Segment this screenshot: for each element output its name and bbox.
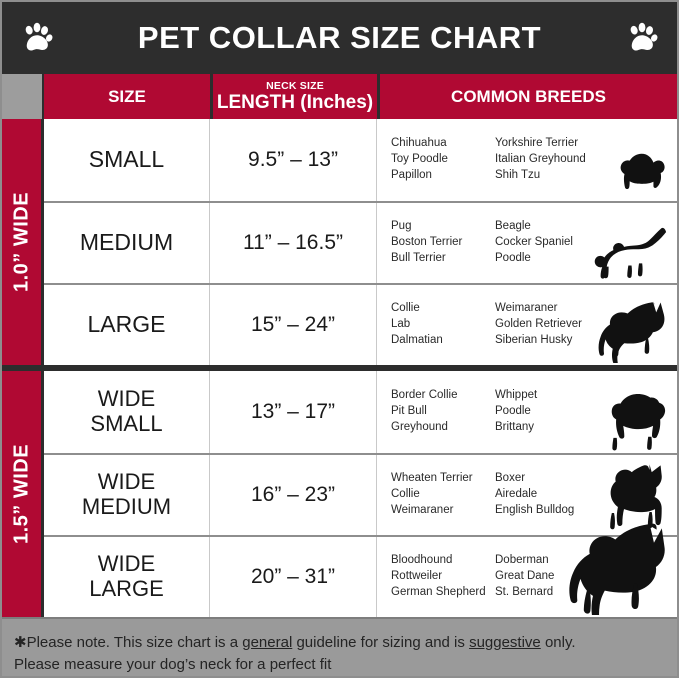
column-header-length: NECK SIZE LENGTH (Inches) <box>213 74 380 119</box>
cell-common-breeds: ChihuahuaToy PoodlePapillonYorkshire Ter… <box>377 119 677 201</box>
size-label-line1: LARGE <box>88 312 166 338</box>
column-header-size: SIZE <box>44 74 213 119</box>
breed-name: Siberian Husky <box>495 333 607 349</box>
group-rows: WIDESMALL13” – 17”Border ColliePit BullG… <box>44 371 677 617</box>
breed-name: Shih Tzu <box>495 168 607 184</box>
breed-name: Greyhound <box>391 420 495 436</box>
size-label-line2: MEDIUM <box>82 495 171 520</box>
breed-name: St. Bernard <box>495 585 607 601</box>
footer-note: ✱Please note. This size chart is a gener… <box>2 617 677 678</box>
group-rows: SMALL9.5” – 13”ChihuahuaToy PoodlePapill… <box>44 119 677 365</box>
breed-name: Collie <box>391 487 495 503</box>
cell-size: WIDELARGE <box>44 537 210 617</box>
breed-list: BoxerAiredaleEnglish Bulldog <box>495 471 607 519</box>
breed-name: Rottweiler <box>391 569 495 585</box>
cell-neck-length: 15” – 24” <box>210 285 377 365</box>
breed-name: Weimaraner <box>495 301 607 317</box>
cell-neck-length: 20” – 31” <box>210 537 377 617</box>
cell-size: WIDESMALL <box>44 371 210 453</box>
breed-list: Wheaten TerrierCollieWeimaraner <box>391 471 495 519</box>
size-label-line2: LARGE <box>89 577 164 602</box>
table-row: WIDESMALL13” – 17”Border ColliePit BullG… <box>44 371 677 453</box>
footer-text-c: only. <box>541 634 576 651</box>
size-label-line1: MEDIUM <box>80 230 173 256</box>
table-row: MEDIUM11” – 16.5”PugBoston TerrierBull T… <box>44 201 677 283</box>
cell-size: LARGE <box>44 285 210 365</box>
cell-neck-length: 9.5” – 13” <box>210 119 377 201</box>
breed-name: Italian Greyhound <box>495 152 607 168</box>
size-label-line1: SMALL <box>89 147 164 173</box>
breed-name: Bull Terrier <box>391 251 495 267</box>
group-width-label: 1.0” WIDE <box>2 119 44 365</box>
breed-name: Whippet <box>495 388 607 404</box>
breed-list: Yorkshire TerrierItalian GreyhoundShih T… <box>495 136 607 184</box>
footer-line-2: Please measure your dog’s neck for a per… <box>14 654 677 677</box>
cell-common-breeds: BloodhoundRottweilerGerman ShepherdDober… <box>377 537 677 617</box>
breed-name: German Shepherd <box>391 585 495 601</box>
breed-list: ChihuahuaToy PoodlePapillon <box>391 136 495 184</box>
size-label-line1: WIDE <box>98 470 155 495</box>
chart-header: PET COLLAR SIZE CHART <box>2 2 677 74</box>
breed-list: DobermanGreat DaneSt. Bernard <box>495 553 607 601</box>
breed-name: Wheaten Terrier <box>391 471 495 487</box>
breed-list: Border ColliePit BullGreyhound <box>391 388 495 436</box>
group-width-label-text: 1.5” WIDE <box>10 444 33 544</box>
breed-name: Papillon <box>391 168 495 184</box>
cell-common-breeds: PugBoston TerrierBull TerrierBeagleCocke… <box>377 203 677 283</box>
footer-line-1: ✱Please note. This size chart is a gener… <box>14 632 677 655</box>
breed-list: BeagleCocker SpanielPoodle <box>495 219 607 267</box>
breed-name: Poodle <box>495 251 607 267</box>
breed-name: Brittany <box>495 420 607 436</box>
column-header-size-label: SIZE <box>108 88 146 105</box>
paw-print-icon <box>20 21 54 55</box>
breed-name: Dalmatian <box>391 333 495 349</box>
breed-name: Cocker Spaniel <box>495 235 607 251</box>
breed-list: CollieLabDalmatian <box>391 301 495 349</box>
table-row: WIDELARGE20” – 31”BloodhoundRottweilerGe… <box>44 535 677 617</box>
breed-name: Lab <box>391 317 495 333</box>
breed-name: Border Collie <box>391 388 495 404</box>
breed-name: Weimaraner <box>391 503 495 519</box>
breed-name: Chihuahua <box>391 136 495 152</box>
breed-name: Pit Bull <box>391 404 495 420</box>
cell-neck-length: 16” – 23” <box>210 455 377 535</box>
cell-size: SMALL <box>44 119 210 201</box>
breed-list: WeimaranerGolden RetrieverSiberian Husky <box>495 301 607 349</box>
cell-size: MEDIUM <box>44 203 210 283</box>
breed-list: PugBoston TerrierBull Terrier <box>391 219 495 267</box>
footer-underline-suggestive: suggestive <box>469 634 541 651</box>
breed-name: Bloodhound <box>391 553 495 569</box>
breed-name: Beagle <box>495 219 607 235</box>
breed-name: Doberman <box>495 553 607 569</box>
breed-name: Poodle <box>495 404 607 420</box>
cell-common-breeds: Wheaten TerrierCollieWeimaranerBoxerAire… <box>377 455 677 535</box>
column-header-length-label: LENGTH (Inches) <box>217 93 373 112</box>
breed-list: BloodhoundRottweilerGerman Shepherd <box>391 553 495 601</box>
breed-name: Toy Poodle <box>391 152 495 168</box>
table-row: WIDEMEDIUM16” – 23”Wheaten TerrierCollie… <box>44 453 677 535</box>
dog-silhouette-small-fluffy <box>609 147 671 199</box>
column-header-breeds: COMMON BREEDS <box>380 74 677 119</box>
breed-name: English Bulldog <box>495 503 607 519</box>
cell-neck-length: 13” – 17” <box>210 371 377 453</box>
breed-name: Boxer <box>495 471 607 487</box>
column-header-neck-size-label: NECK SIZE <box>266 81 324 92</box>
size-group: 1.0” WIDESMALL9.5” – 13”ChihuahuaToy Poo… <box>2 119 677 365</box>
breed-list: WhippetPoodleBrittany <box>495 388 607 436</box>
group-width-label-text: 1.0” WIDE <box>10 192 33 292</box>
table-body: 1.0” WIDESMALL9.5” – 13”ChihuahuaToy Poo… <box>2 119 677 617</box>
breed-name: Yorkshire Terrier <box>495 136 607 152</box>
footer-text-b: guideline for sizing and is <box>292 634 469 651</box>
footer-underline-general: general <box>242 634 292 651</box>
breed-name: Pug <box>391 219 495 235</box>
table-row: LARGE15” – 24”CollieLabDalmatianWeimaran… <box>44 283 677 365</box>
cell-common-breeds: Border ColliePit BullGreyhoundWhippetPoo… <box>377 371 677 453</box>
footer-text-a: ✱Please note. This size chart is a <box>14 634 242 651</box>
breed-name: Golden Retriever <box>495 317 607 333</box>
size-group: 1.5” WIDEWIDESMALL13” – 17”Border Collie… <box>2 365 677 617</box>
cell-neck-length: 11” – 16.5” <box>210 203 377 283</box>
size-label-line2: SMALL <box>90 412 162 437</box>
breed-name: Boston Terrier <box>391 235 495 251</box>
table-row: SMALL9.5” – 13”ChihuahuaToy PoodlePapill… <box>44 119 677 201</box>
breed-name: Collie <box>391 301 495 317</box>
page-title: PET COLLAR SIZE CHART <box>138 20 541 56</box>
table-column-headers: SIZE NECK SIZE LENGTH (Inches) COMMON BR… <box>2 74 677 119</box>
cell-common-breeds: CollieLabDalmatianWeimaranerGolden Retri… <box>377 285 677 365</box>
column-header-breeds-label: COMMON BREEDS <box>451 88 606 105</box>
corner-cell <box>2 74 44 119</box>
size-label-line1: WIDE <box>98 387 155 412</box>
paw-print-icon <box>625 21 659 55</box>
breed-name: Airedale <box>495 487 607 503</box>
pet-collar-size-chart: PET COLLAR SIZE CHART SIZE NECK SIZE LEN… <box>0 0 679 678</box>
breed-name: Great Dane <box>495 569 607 585</box>
cell-size: WIDEMEDIUM <box>44 455 210 535</box>
size-label-line1: WIDE <box>98 552 155 577</box>
group-width-label: 1.5” WIDE <box>2 371 44 617</box>
